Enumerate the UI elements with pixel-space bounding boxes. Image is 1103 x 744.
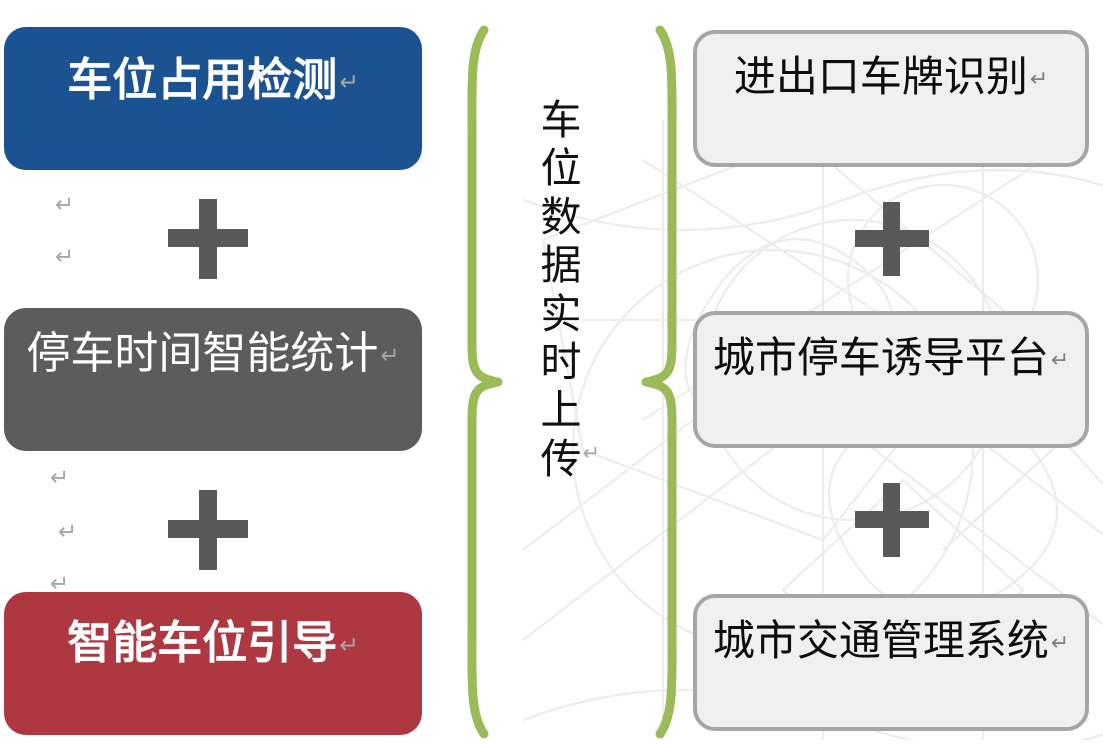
center-vertical-label: 车 位 数 据 实 时 上 传↵ (532, 96, 590, 483)
return-mark-icon: ↵ (55, 246, 74, 269)
return-mark-icon: ↵ (380, 342, 399, 368)
right-green-brace-icon (622, 24, 682, 740)
right-box-city-traffic-management-system[interactable]: 城市交通管理系统↵ (693, 594, 1089, 731)
right-box-gate-plate-recognition[interactable]: 进出口车牌识别↵ (693, 30, 1089, 167)
left-box-1-label: 车位占用检测↵ (67, 57, 359, 102)
left-operator-plus-1 (168, 199, 248, 279)
center-char: 据 (541, 241, 582, 289)
right-box-2-label: 城市停车诱导平台↵ (713, 337, 1069, 379)
return-mark-icon: ↵ (50, 467, 69, 490)
return-mark-icon: ↵ (339, 69, 359, 95)
center-char: 数 (541, 193, 582, 241)
center-char: 位 (541, 144, 582, 192)
left-box-parking-duration-statistics[interactable]: 停车时间智能统计↵ (4, 308, 422, 451)
return-mark-icon: ↵ (1051, 347, 1069, 372)
left-box-2-label: 停车时间智能统计↵ (26, 332, 399, 376)
left-operator-plus-2 (168, 490, 248, 570)
right-box-1-label: 进出口车牌识别↵ (734, 56, 1048, 98)
return-mark-icon: ↵ (55, 194, 74, 217)
right-box-3-label: 城市交通管理系统↵ (713, 620, 1069, 662)
return-mark-icon: ↵ (339, 632, 359, 658)
center-char: 时 (541, 338, 582, 386)
center-char: 上 (541, 386, 582, 434)
return-mark-icon: ↵ (1051, 630, 1069, 655)
left-box-parking-occupancy-detection[interactable]: 车位占用检测↵ (4, 27, 422, 170)
center-char: 实 (541, 290, 582, 338)
return-mark-icon: ↵ (583, 441, 601, 466)
left-box-smart-parking-guidance[interactable]: 智能车位引导↵ (4, 592, 422, 735)
left-box-3-label: 智能车位引导↵ (67, 620, 359, 665)
return-mark-icon: ↵ (58, 521, 77, 544)
diagram-canvas: 车位占用检测↵ ↵ ↵ 停车时间智能统计↵ ↵ ↵ ↵ 智能车位引导↵ 车 位 … (0, 0, 1103, 744)
right-operator-plus-2 (855, 483, 929, 557)
right-box-city-parking-guidance-platform[interactable]: 城市停车诱导平台↵ (693, 311, 1089, 448)
right-operator-plus-1 (855, 202, 929, 276)
left-green-brace-icon (462, 24, 522, 740)
center-char-last: 传↵ (541, 435, 582, 483)
return-mark-icon: ↵ (1030, 66, 1048, 91)
center-char: 车 (541, 96, 582, 144)
